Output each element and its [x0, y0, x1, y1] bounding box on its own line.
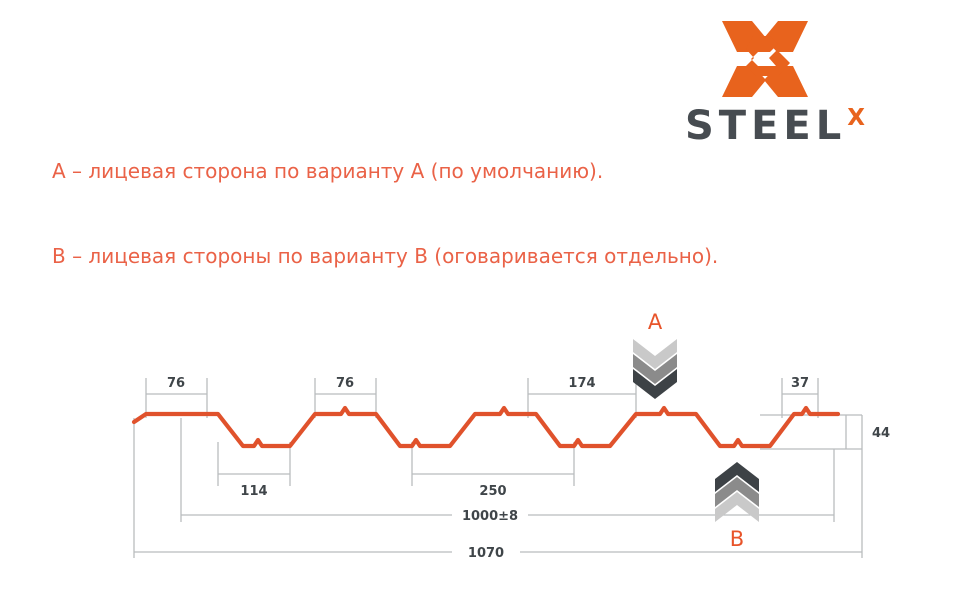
side-b-marker-letter: В — [730, 527, 744, 551]
dimension-label-effective-width: 1000±8 — [462, 509, 518, 524]
dimension-label-edge-flat: 37 — [791, 376, 809, 391]
brand-wordmark-text: STEEL — [685, 106, 846, 146]
dimension-label-profile-height: 44 — [872, 426, 890, 441]
brand-wordmark-superscript: X — [847, 107, 865, 130]
brand-wordmark: STEEL X — [685, 106, 915, 146]
witness-lines — [134, 378, 862, 558]
dimension-label-bottom-flat: 114 — [240, 484, 267, 499]
side-b-marker: В — [715, 462, 759, 551]
dimension-label-crest-spacing: 174 — [568, 376, 595, 391]
caption-variant-b: В – лицевая стороны по варианту В (огова… — [52, 244, 718, 268]
steelx-logo-icon — [720, 18, 810, 100]
sheet-profile-path — [134, 408, 838, 446]
dimension-lines — [134, 394, 862, 552]
chevron-up-icon — [715, 462, 759, 522]
dimension-label-top-flat-2: 76 — [336, 376, 354, 391]
brand-logo: STEEL X — [685, 18, 915, 143]
dimension-label-overall-width: 1070 — [468, 546, 504, 561]
dimension-label-top-flat-1: 76 — [167, 376, 185, 391]
caption-variant-a: А – лицевая сторона по варианту А (по ум… — [52, 159, 603, 183]
chevron-down-icon — [633, 339, 677, 399]
side-a-marker-letter: А — [648, 310, 663, 334]
dimension-label-rib-pitch: 250 — [479, 484, 506, 499]
profile-technical-drawing: 76 76 114 250 174 37 44 1000±8 1070 А В — [0, 290, 970, 590]
side-a-marker: А — [633, 310, 677, 399]
